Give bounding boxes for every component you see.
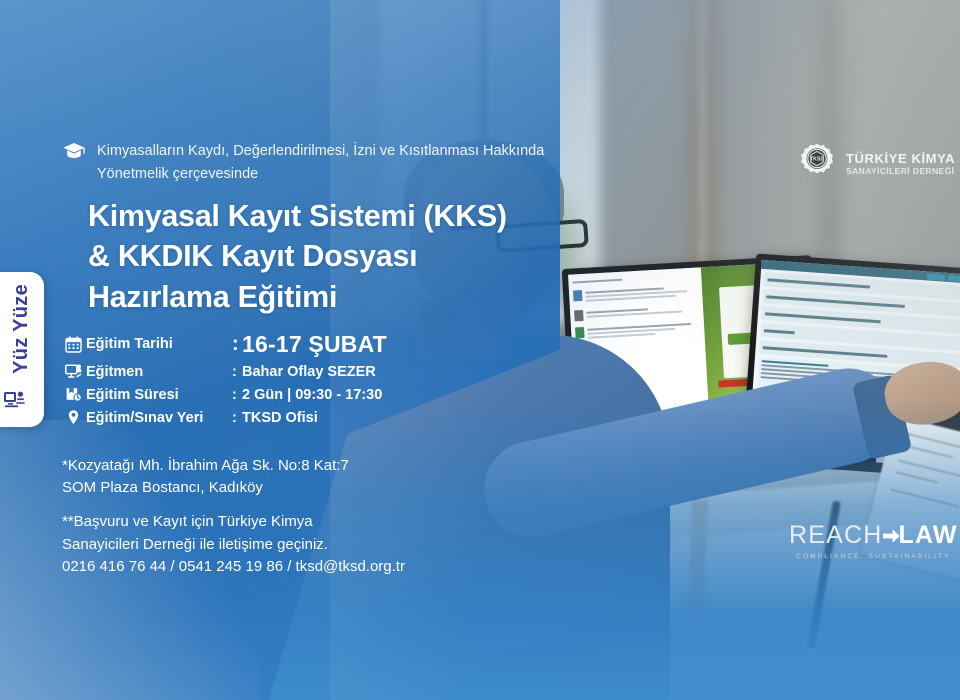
- format-badge-label: Yüz Yüze: [10, 284, 33, 374]
- page-title: Kimyasal Kayıt Sistemi (KKS) & KKDIK Kay…: [88, 196, 648, 317]
- detail-value-venue: TKSD Ofisi: [242, 410, 318, 426]
- presentation-person-icon: [3, 390, 27, 415]
- tksd-logo[interactable]: TKSD TÜRKİYE KİMYA SANAYİCİLERİ DERNEĞİ: [797, 142, 955, 187]
- footnote-contact-line-1: **Başvuru ve Kayıt için Türkiye Kimya: [62, 511, 522, 533]
- reachlaw-logo[interactable]: REACH LAW COMPLIANCE. SUSTAINABILITY: [789, 521, 958, 560]
- reachlaw-tagline: COMPLIANCE. SUSTAINABILITY: [789, 553, 958, 560]
- detail-sep-trainer: :: [232, 364, 242, 380]
- detail-value-trainer: Bahar Oflay SEZER: [242, 364, 376, 380]
- detail-label-trainer: Eğitmen: [86, 364, 232, 380]
- detail-sep-duration: :: [232, 387, 242, 403]
- detail-row-trainer: Eğitmen : Bahar Oflay SEZER: [60, 360, 387, 383]
- detail-value-duration: 2 Gün | 09:30 - 17:30: [242, 387, 382, 403]
- event-poster: Yüz Yüze: [0, 0, 960, 700]
- detail-row-venue: Eğitim/Sınav Yeri : TKSD Ofisi: [60, 406, 387, 429]
- poster-content: Yüz Yüze: [0, 0, 960, 700]
- footnotes-block: *Kozyatağı Mh. İbrahim Ağa Sk. No:8 Kat:…: [62, 455, 522, 578]
- reachlaw-wordmark: REACH LAW: [789, 521, 958, 550]
- detail-sep-date: :: [232, 333, 242, 356]
- title-line-3: Hazırlama Eğitimi: [88, 277, 648, 317]
- format-badge-tab[interactable]: Yüz Yüze: [0, 272, 44, 427]
- tksd-logo-line-1: TÜRKİYE KİMYA: [846, 152, 955, 167]
- title-line-2: & KKDIK Kayıt Dosyası: [88, 236, 648, 276]
- detail-row-date: Eğitim Tarihi : 16-17 ŞUBAT: [60, 328, 387, 360]
- book-clock-icon: [60, 386, 86, 403]
- arrow-right-icon: [881, 525, 901, 547]
- location-pin-icon: [60, 409, 86, 426]
- svg-text:TKSD: TKSD: [810, 156, 824, 162]
- tksd-logo-text: TÜRKİYE KİMYA SANAYİCİLERİ DERNEĞİ: [846, 152, 955, 176]
- detail-label-venue: Eğitim/Sınav Yeri: [86, 410, 232, 426]
- detail-row-duration: Eğitim Süresi : 2 Gün | 09:30 - 17:30: [60, 383, 387, 406]
- reachlaw-part-2: LAW: [899, 521, 958, 550]
- gear-hexagon-icon: TKSD: [797, 142, 837, 187]
- reachlaw-part-1: REACH: [789, 521, 883, 550]
- footnote-address-line-1: *Kozyatağı Mh. İbrahim Ağa Sk. No:8 Kat:…: [62, 455, 522, 477]
- event-details-list: Eğitim Tarihi : 16-17 ŞUBAT Eğitmen : Ba: [60, 328, 387, 429]
- subtitle-block: Kimyasalların Kaydı, Değerlendirilmesi, …: [62, 140, 562, 187]
- footnote-contact-line-2: Sanayicileri Derneği ile iletişime geçin…: [62, 534, 522, 556]
- detail-label-duration: Eğitim Süresi: [86, 387, 232, 403]
- footnote-contact-line-3: 0216 416 76 44 / 0541 245 19 86 / tksd@t…: [62, 556, 522, 578]
- trainer-screen-icon: [60, 363, 86, 380]
- title-line-1: Kimyasal Kayıt Sistemi (KKS): [88, 196, 648, 236]
- graduation-cap-icon: [62, 142, 86, 187]
- calendar-icon: [60, 336, 86, 353]
- subtitle-text: Kimyasalların Kaydı, Değerlendirilmesi, …: [97, 140, 562, 187]
- detail-value-date: 16-17 ŞUBAT: [242, 331, 387, 358]
- detail-sep-venue: :: [232, 410, 242, 426]
- tksd-logo-line-2: SANAYİCİLERİ DERNEĞİ: [846, 167, 955, 177]
- detail-label-date: Eğitim Tarihi: [86, 336, 232, 352]
- footnote-address-line-2: SOM Plaza Bostancı, Kadıköy: [62, 477, 522, 499]
